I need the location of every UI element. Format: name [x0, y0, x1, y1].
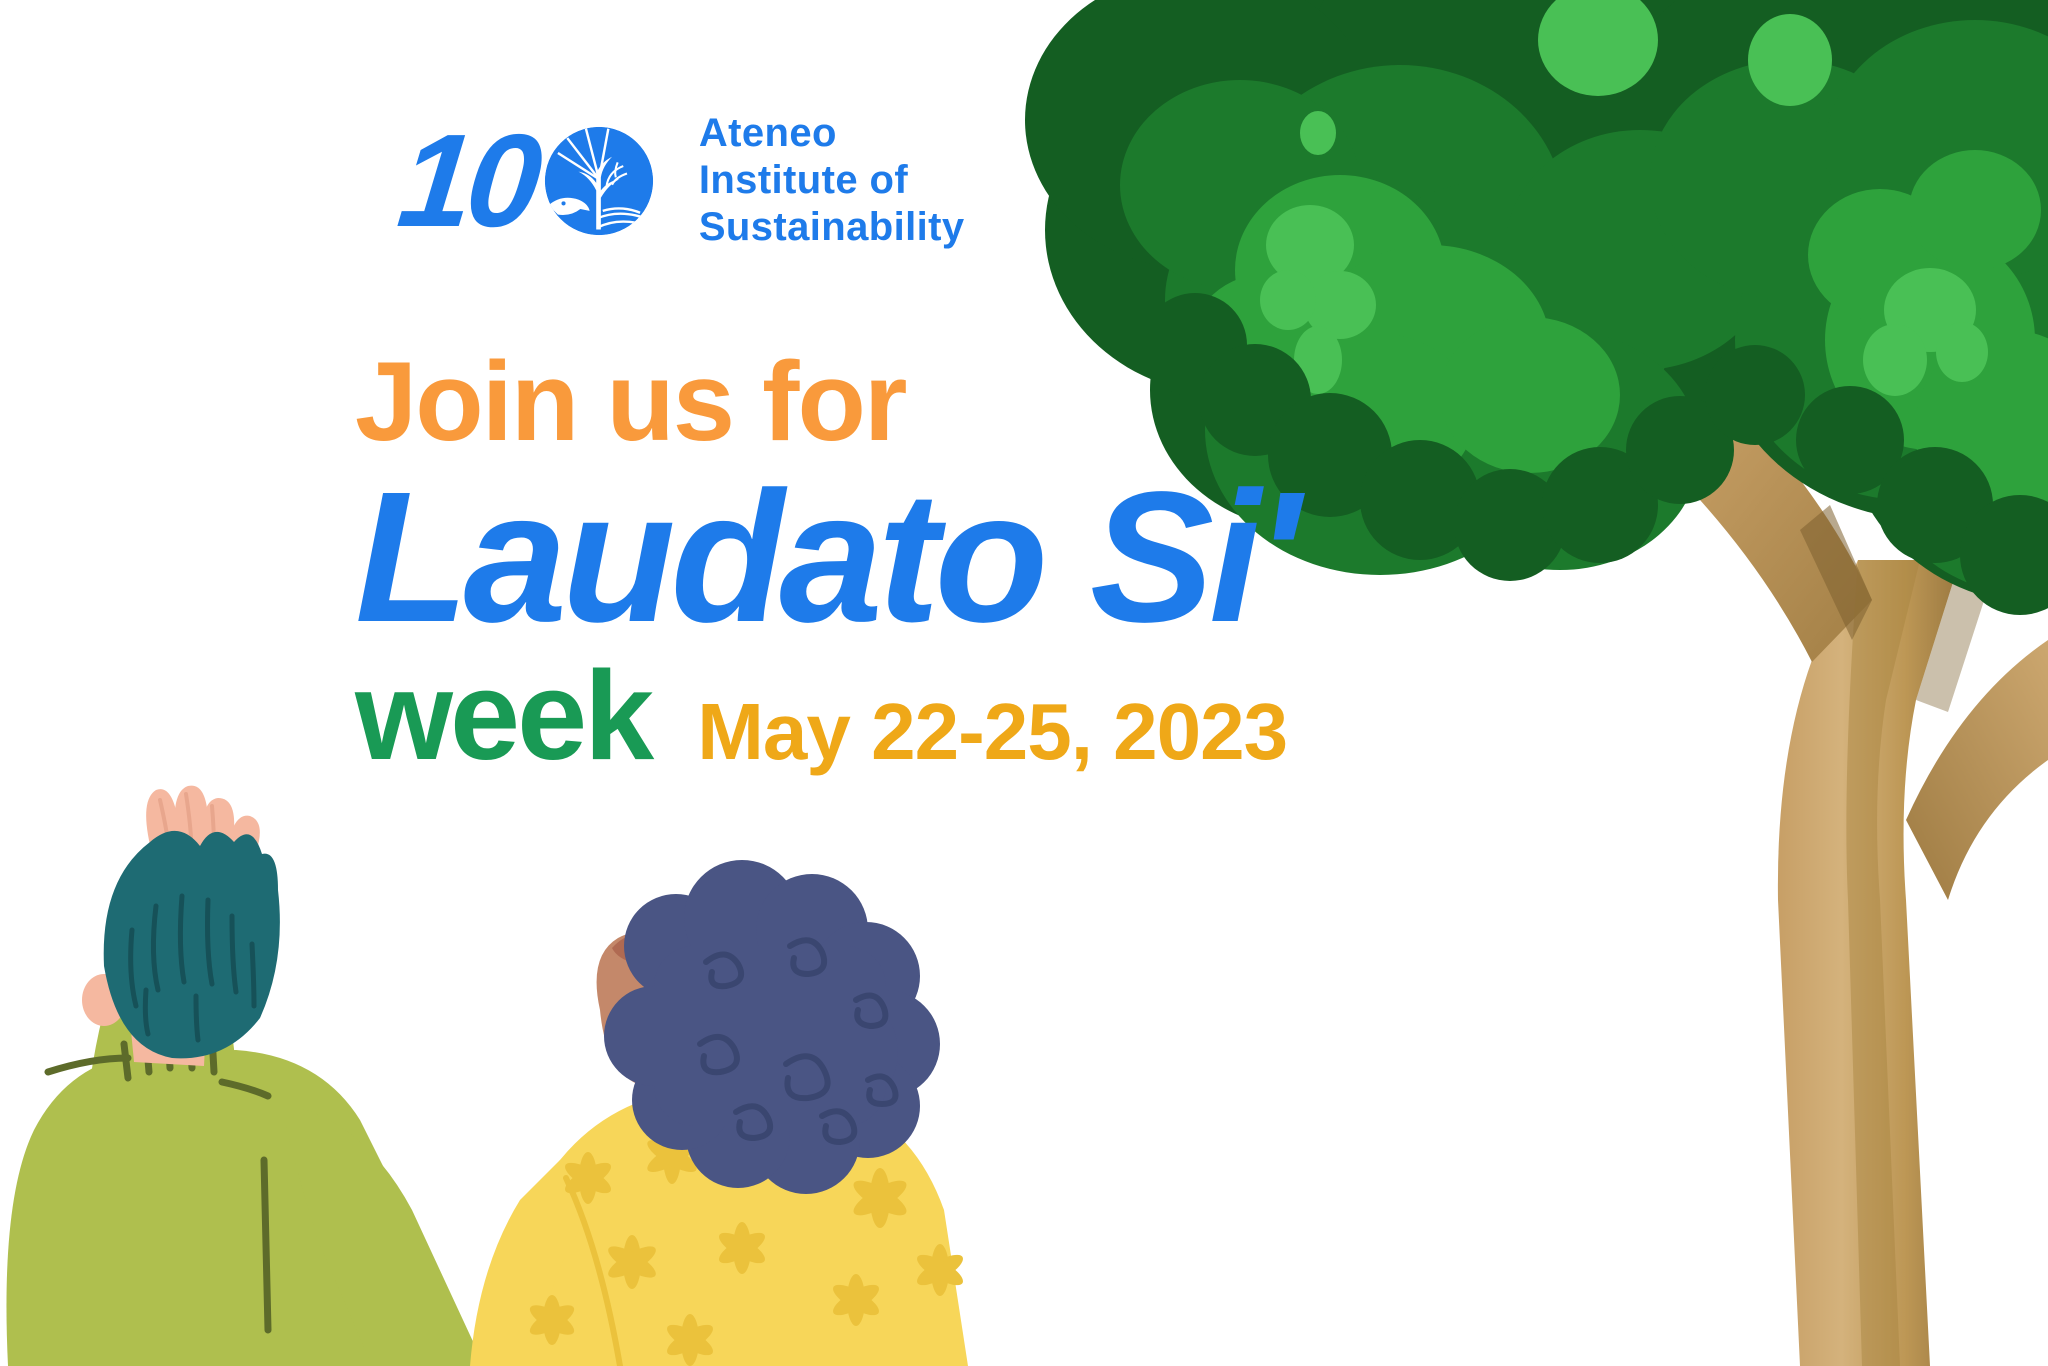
waving-hand: [146, 786, 263, 924]
logo-lockup: 10: [400, 110, 965, 252]
curly-hair: [604, 860, 940, 1194]
child-looking-up-figure: [470, 860, 968, 1366]
child-waving-figure: [6, 786, 500, 1366]
event-dates: May 22-25, 2023: [697, 692, 1287, 772]
logo-wordmark: Ateneo Institute of Sustainability: [699, 110, 965, 252]
logo-line-3: Sustainability: [699, 204, 965, 251]
yellow-floral-top: [470, 1088, 968, 1366]
anniversary-numeral: 10: [394, 128, 540, 234]
ateneo-sustainability-circle-emblem: [543, 125, 655, 237]
tree-trunk: [1672, 408, 2048, 1366]
canopy-light: [1190, 150, 2048, 530]
poster-canvas: 10: [0, 0, 2048, 1366]
headline-title: Laudato Si': [355, 465, 1295, 651]
floral-pattern: [526, 1126, 967, 1366]
logo-line-1: Ateneo: [699, 110, 965, 157]
headline-block: Join us for Laudato Si' week May 22-25, …: [355, 345, 1295, 779]
headline-baseline-row: week May 22-25, 2023: [355, 653, 1295, 779]
logo-line-2: Institute of: [699, 157, 965, 204]
canopy-highlight: [1260, 0, 1988, 396]
jacket-collar: [112, 1032, 236, 1090]
headline-subtitle: week: [355, 653, 651, 779]
headline-invitation: Join us for: [355, 345, 1295, 459]
